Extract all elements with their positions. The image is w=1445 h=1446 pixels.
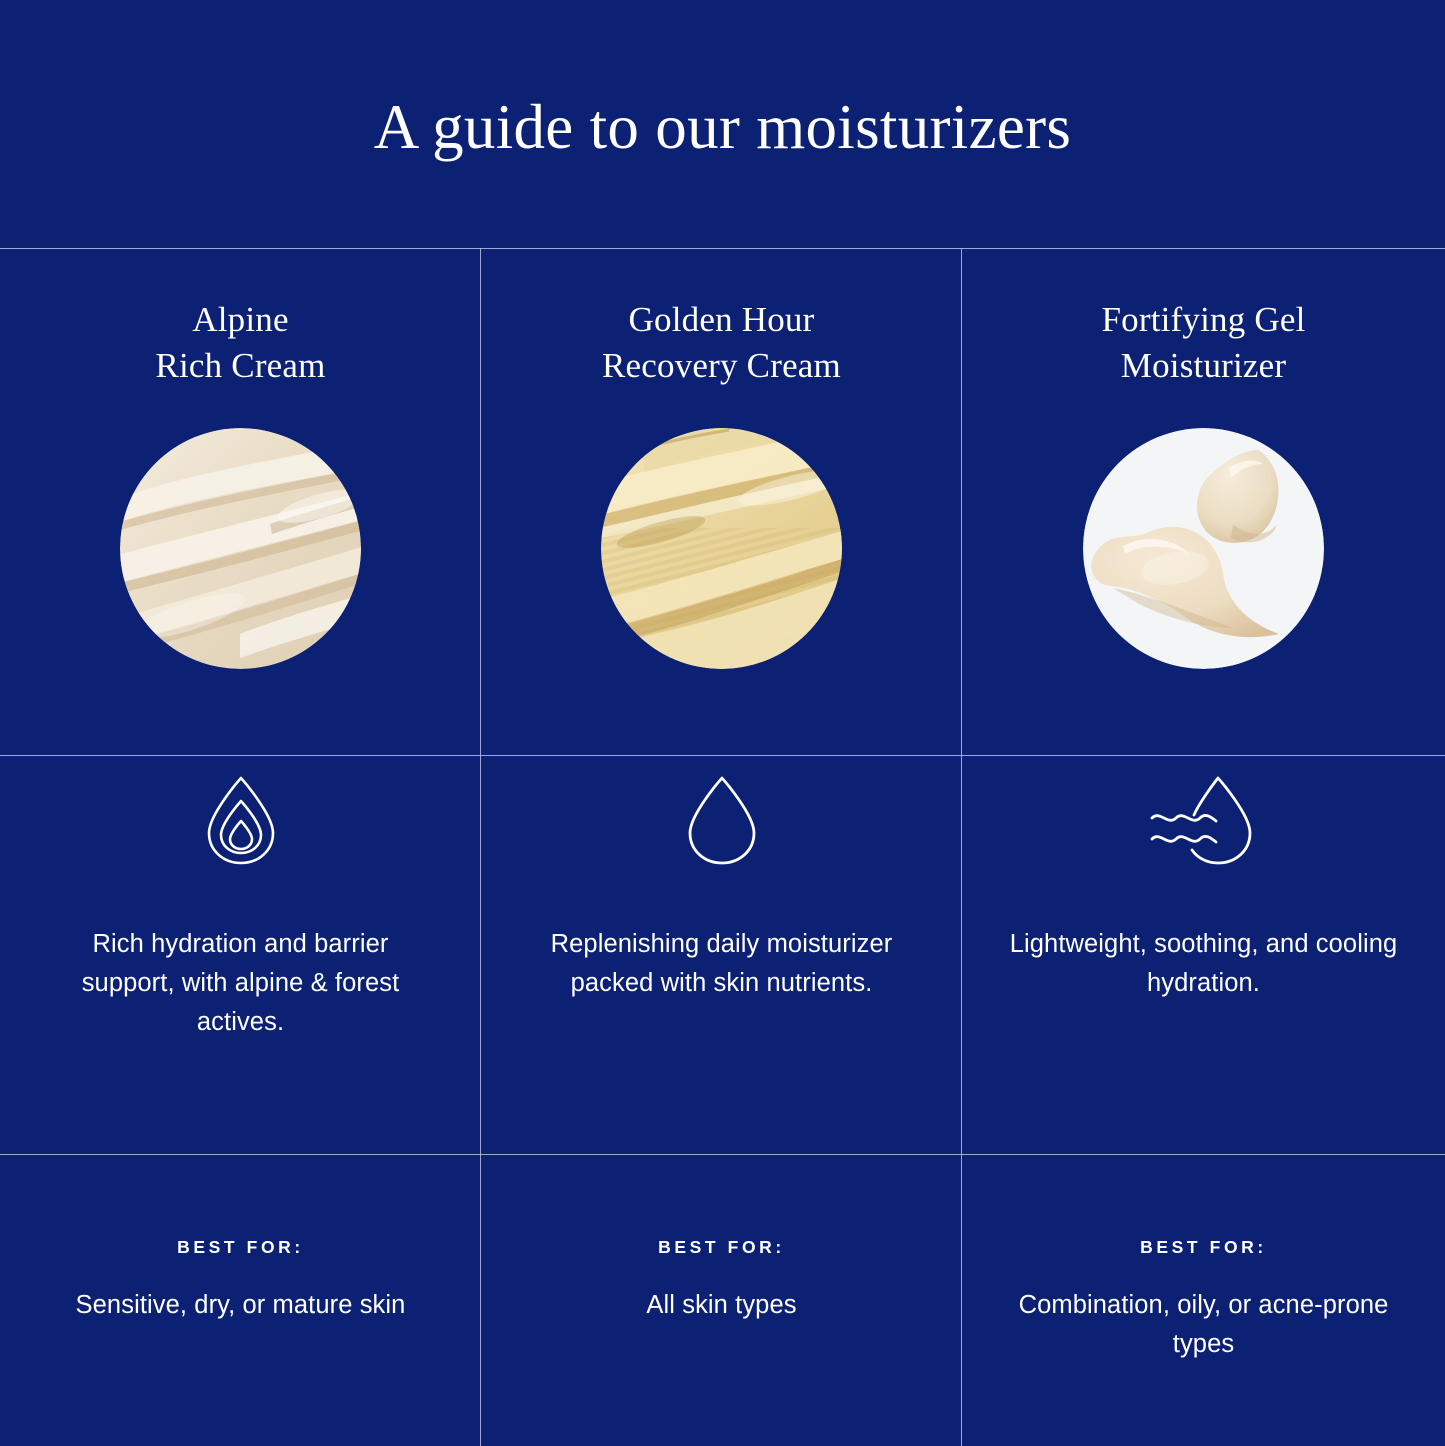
best-for-cell-golden-hour: BEST FOR: All skin types bbox=[481, 1155, 962, 1446]
benefit-description-golden-hour: Replenishing daily moisturizer packed wi… bbox=[481, 874, 962, 1003]
icon-wrap-golden-hour bbox=[481, 756, 962, 874]
product-name-alpine: Alpine Rich Cream bbox=[0, 248, 481, 389]
product-name-line2: Rich Cream bbox=[155, 346, 325, 385]
product-name-line2: Recovery Cream bbox=[602, 346, 841, 385]
product-card-alpine: Alpine Rich Cream bbox=[0, 248, 481, 755]
cream-swatch-golden bbox=[601, 428, 842, 669]
product-name-line1: Golden Hour bbox=[629, 300, 815, 339]
product-card-golden-hour: Golden Hour Recovery Cream bbox=[481, 248, 962, 755]
benefit-description-fortifying-gel: Lightweight, soothing, and cooling hydra… bbox=[962, 874, 1445, 1003]
product-card-fortifying-gel: Fortifying Gel Moisturizer bbox=[962, 248, 1445, 755]
swatch-wrap-alpine bbox=[0, 428, 481, 669]
moisturizer-guide-poster: A guide to our moisturizers Alpine Rich … bbox=[0, 0, 1445, 1446]
icon-wrap-alpine bbox=[0, 756, 481, 874]
best-for-label: BEST FOR: bbox=[481, 1155, 962, 1258]
best-for-cell-fortifying-gel: BEST FOR: Combination, oily, or acne-pro… bbox=[962, 1155, 1445, 1446]
best-for-value-fortifying-gel: Combination, oily, or acne-prone types bbox=[962, 1258, 1445, 1364]
droplet-icon bbox=[681, 771, 763, 874]
title-band: A guide to our moisturizers bbox=[0, 0, 1445, 248]
gel-droplets-swatch bbox=[1083, 428, 1324, 669]
best-for-label: BEST FOR: bbox=[962, 1155, 1445, 1258]
benefit-cell-fortifying-gel: Lightweight, soothing, and cooling hydra… bbox=[962, 756, 1445, 1154]
benefit-cell-alpine: Rich hydration and barrier support, with… bbox=[0, 756, 481, 1154]
page-title: A guide to our moisturizers bbox=[374, 88, 1072, 160]
product-name-line2: Moisturizer bbox=[1121, 346, 1287, 385]
best-for-value-golden-hour: All skin types bbox=[481, 1258, 962, 1325]
best-for-label: BEST FOR: bbox=[0, 1155, 481, 1258]
cream-swatch-ivory bbox=[120, 428, 361, 669]
product-name-fortifying-gel: Fortifying Gel Moisturizer bbox=[962, 248, 1445, 389]
icon-wrap-fortifying-gel bbox=[962, 756, 1445, 874]
best-for-value-alpine: Sensitive, dry, or mature skin bbox=[0, 1258, 481, 1325]
product-name-golden-hour: Golden Hour Recovery Cream bbox=[481, 248, 962, 389]
swatch-wrap-golden-hour bbox=[481, 428, 962, 669]
benefit-cell-golden-hour: Replenishing daily moisturizer packed wi… bbox=[481, 756, 962, 1154]
triple-droplet-icon bbox=[200, 771, 282, 874]
product-name-line1: Fortifying Gel bbox=[1101, 300, 1305, 339]
benefit-description-alpine: Rich hydration and barrier support, with… bbox=[0, 874, 481, 1041]
best-for-cell-alpine: BEST FOR: Sensitive, dry, or mature skin bbox=[0, 1155, 481, 1446]
swatch-wrap-fortifying-gel bbox=[962, 428, 1445, 669]
cooling-droplet-icon bbox=[1142, 771, 1266, 874]
product-name-line1: Alpine bbox=[192, 300, 288, 339]
